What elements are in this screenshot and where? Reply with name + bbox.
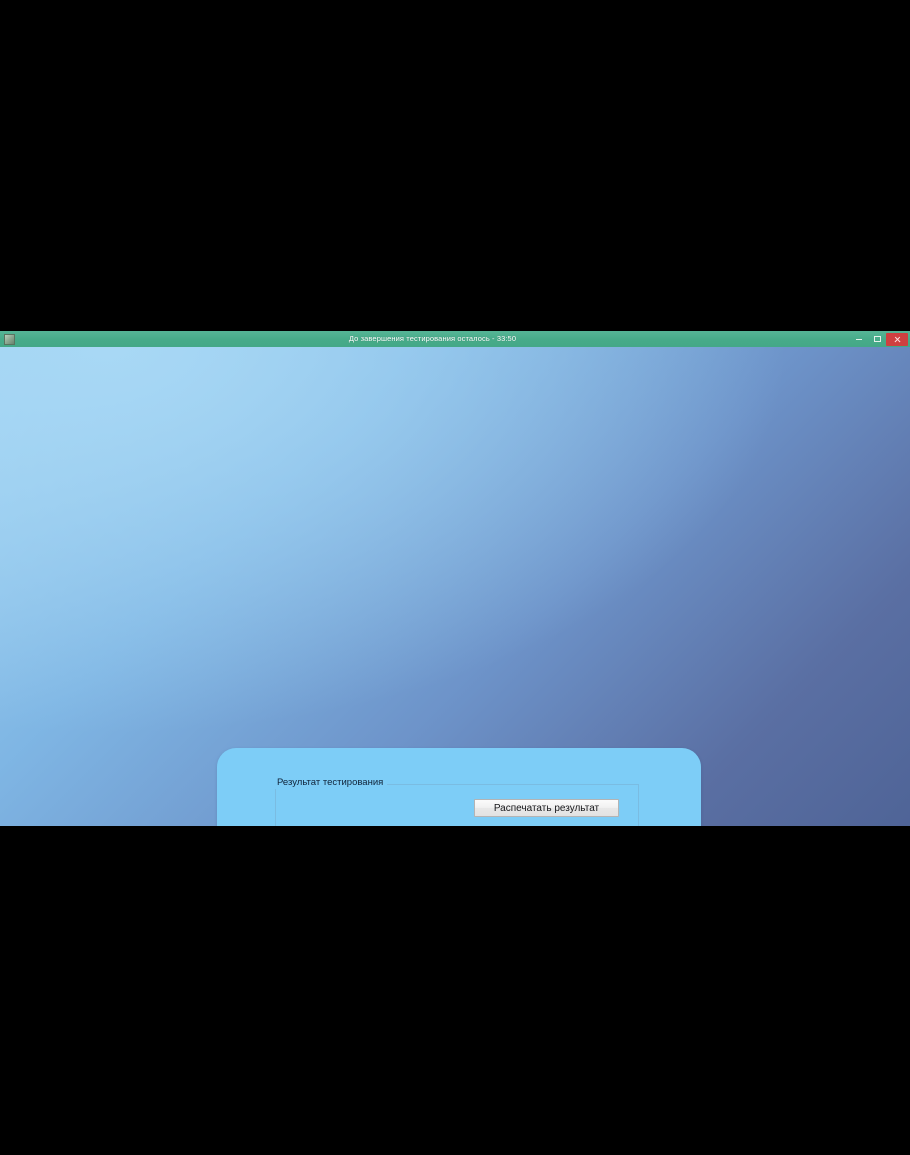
- print-result-button[interactable]: Распечатать результат: [474, 799, 619, 817]
- window-title: До завершения тестирования осталось - 33…: [15, 331, 850, 347]
- results-list: Экзамен завершён KiUl.Ru Дисциплина: Рим…: [292, 824, 592, 826]
- window-controls: [850, 331, 908, 347]
- list-item: Экзамен завершён KiUl.Ru: [292, 824, 592, 826]
- result-panel: Результат тестирования Распечатать резул…: [217, 748, 701, 826]
- screen-letterbox: До завершения тестирования осталось - 33…: [0, 0, 910, 1155]
- application-window: До завершения тестирования осталось - 33…: [0, 331, 910, 826]
- title-bar[interactable]: До завершения тестирования осталось - 33…: [0, 331, 910, 347]
- app-icon: [4, 334, 15, 345]
- maximize-icon[interactable]: [868, 332, 886, 346]
- close-icon[interactable]: [886, 333, 908, 346]
- groupbox-legend: Результат тестирования: [275, 777, 387, 789]
- minimize-icon[interactable]: [850, 332, 868, 346]
- watermark-overlay: KiUl.Ru: [350, 823, 377, 826]
